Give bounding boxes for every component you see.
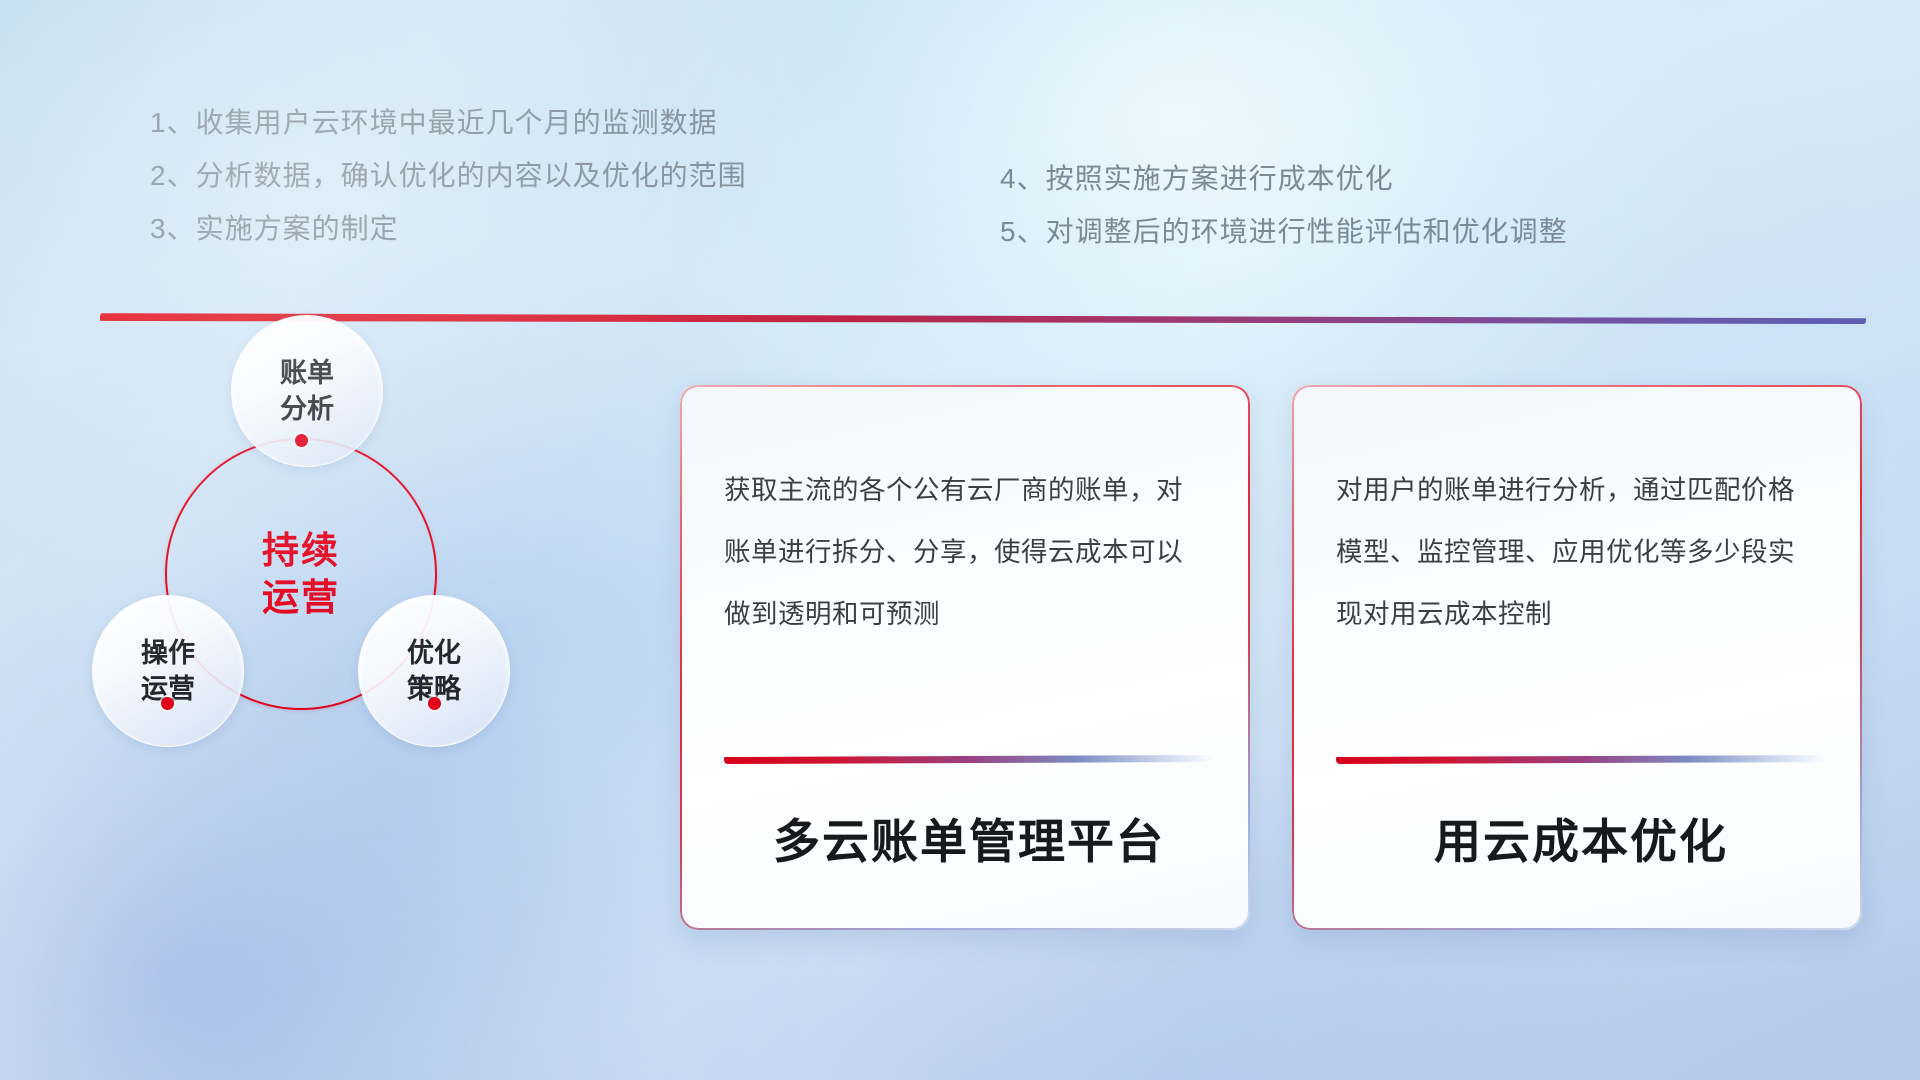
list-item: 1、收集用户云环境中最近几个月的监测数据 xyxy=(150,96,747,149)
feature-card-cloud-cost-optimization[interactable]: 对用户的账单进行分析，通过匹配价格模型、监控管理、应用优化等多少段实现对用云成本… xyxy=(1292,385,1862,930)
list-item-text: 实施方案的制定 xyxy=(196,213,399,244)
list-item-number: 5、 xyxy=(1000,205,1046,258)
list-item-number: 4、 xyxy=(1000,152,1046,205)
list-item-number: 2、 xyxy=(150,149,196,202)
card-divider xyxy=(724,755,1214,764)
venn-connector-dot-top xyxy=(295,434,308,447)
venn-center-label-line2: 运营 xyxy=(262,574,340,621)
venn-node-optimization-strategy[interactable]: 优化 策略 xyxy=(358,595,510,747)
list-item-number: 3、 xyxy=(150,202,196,255)
venn-node-label-line1: 操作 xyxy=(141,635,195,671)
venn-node-label-line1: 优化 xyxy=(407,635,461,671)
list-item: 4、按照实施方案进行成本优化 xyxy=(1000,152,1568,205)
card-title: 用云成本优化 xyxy=(1336,803,1826,872)
list-item: 3、实施方案的制定 xyxy=(150,202,747,255)
list-item-text: 收集用户云环境中最近几个月的监测数据 xyxy=(196,107,718,138)
venn-node-operations[interactable]: 操作 运营 xyxy=(92,595,244,747)
venn-connector-dot-left xyxy=(161,697,174,710)
venn-center-label-line1: 持续 xyxy=(262,527,340,574)
venn-node-label-line1: 账单 xyxy=(280,355,334,391)
section-divider-rule xyxy=(100,313,1866,324)
feature-card-multicloud-billing[interactable]: 获取主流的各个公有云厂商的账单，对账单进行拆分、分享，使得云成本可以做到透明和可… xyxy=(680,385,1250,930)
list-item-number: 1、 xyxy=(150,96,196,149)
venn-connector-dot-right xyxy=(428,697,441,710)
venn-node-billing-analysis[interactable]: 账单 分析 xyxy=(231,315,383,467)
list-item-text: 分析数据，确认优化的内容以及优化的范围 xyxy=(196,160,747,191)
card-title: 多云账单管理平台 xyxy=(724,803,1214,872)
venn-node-label-line2: 分析 xyxy=(280,391,334,427)
slide-canvas: 1、收集用户云环境中最近几个月的监测数据 2、分析数据，确认优化的内容以及优化的… xyxy=(0,0,1920,1080)
steps-list-right: 4、按照实施方案进行成本优化 5、对调整后的环境进行性能评估和优化调整 xyxy=(1000,152,1568,258)
list-item-text: 对调整后的环境进行性能评估和优化调整 xyxy=(1046,216,1568,247)
card-body-text: 获取主流的各个公有云厂商的账单，对账单进行拆分、分享，使得云成本可以做到透明和可… xyxy=(724,459,1206,645)
list-item: 2、分析数据，确认优化的内容以及优化的范围 xyxy=(150,149,747,202)
venn-diagram: 持续 运营 账单 分析 操作 运营 优化 策略 xyxy=(85,340,615,900)
card-body-text: 对用户的账单进行分析，通过匹配价格模型、监控管理、应用优化等多少段实现对用云成本… xyxy=(1336,459,1818,645)
steps-list-left: 1、收集用户云环境中最近几个月的监测数据 2、分析数据，确认优化的内容以及优化的… xyxy=(150,96,747,255)
card-divider xyxy=(1336,755,1826,764)
list-item: 5、对调整后的环境进行性能评估和优化调整 xyxy=(1000,205,1568,258)
list-item-text: 按照实施方案进行成本优化 xyxy=(1046,163,1394,194)
